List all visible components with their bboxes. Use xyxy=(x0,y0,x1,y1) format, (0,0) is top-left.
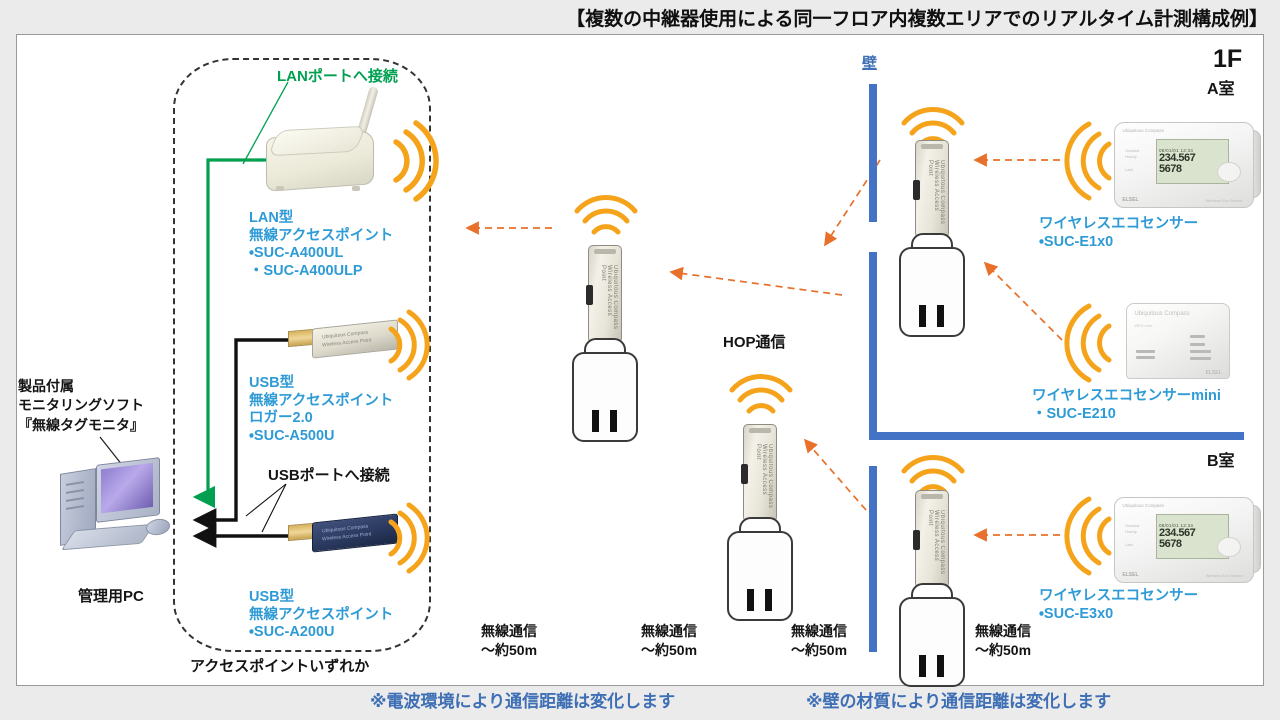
footnote-radio-environment: ※電波環境により通信距離は変化します xyxy=(370,692,675,713)
repeater-body-text: Ubiquitous Compass Wireless Access Point xyxy=(919,510,945,576)
floor-label: 1F xyxy=(1213,44,1242,75)
router-foot-right xyxy=(352,186,360,191)
sensor-brand-text: Ubiquitous Compass xyxy=(1122,503,1164,508)
outlet-body xyxy=(572,352,638,442)
mini-sensor-vent xyxy=(1190,357,1211,360)
wall-segment-top xyxy=(869,84,877,222)
sensor-sub-text: OutdoorHourlyLast xyxy=(1125,148,1139,174)
mini-sensor-sub: WES mini xyxy=(1134,323,1152,328)
outlet-slot-left xyxy=(592,410,599,432)
wireless-eco-sensor-e3x0-label: ワイヤレスエコセンサー ・SUC-E3x0 xyxy=(1039,588,1198,623)
repeater-body-text: Ubiquitous Compass Wireless Access Point xyxy=(592,265,618,331)
outlet-body xyxy=(727,531,793,621)
pc-tower-line xyxy=(66,497,84,502)
mini-sensor-vent xyxy=(1136,356,1155,359)
wifi-icon-sensor-mini xyxy=(1073,300,1115,384)
repeater-body-text: Ubiquitous Compass Wireless Access Point xyxy=(919,160,945,226)
outlet-slot-left xyxy=(919,655,926,677)
wifi-icon-usb-ap xyxy=(386,500,428,576)
usb-connector xyxy=(288,329,314,347)
wifi-icon-lan-ap xyxy=(390,118,438,204)
access-point-group-caption: アクセスポイントいずれか xyxy=(190,658,369,676)
pc-monitor xyxy=(96,457,160,523)
outlet-slot-right xyxy=(610,410,617,432)
lan-connect-note: LANポートへ接続 xyxy=(277,68,398,86)
footnote-wall-material: ※壁の材質により通信距離は変化します xyxy=(806,692,1111,713)
usb-connector xyxy=(288,523,314,541)
outlet-slot-left xyxy=(747,589,754,611)
pc-tower-line xyxy=(66,505,84,510)
management-pc-label: 管理用PC xyxy=(78,588,144,606)
distance-repeater-to-room-a: 無線通信 〜約50m xyxy=(791,622,847,660)
hop-communication-label: HOP通信 xyxy=(723,334,786,352)
outlet-slot-right xyxy=(937,655,944,677)
wifi-icon-sensor-e1x0 xyxy=(1073,118,1115,202)
outlet-slot-right xyxy=(765,589,772,611)
usb-access-point-label: USB型 無線アクセスポイント ・SUC-A200U xyxy=(249,589,393,642)
repeater-cap xyxy=(594,249,616,254)
distance-ap-to-repeater: 無線通信 〜約50m xyxy=(481,622,537,660)
repeater-cap xyxy=(921,494,943,499)
mini-sensor-vent xyxy=(1190,335,1205,338)
mini-sensor-vent xyxy=(1190,343,1205,346)
sensor-footer-text: Wireless Eco Sensor xyxy=(1206,573,1243,578)
outlet-slot-left xyxy=(919,305,926,327)
sensor-sub-text: OutdoorHourlyLast xyxy=(1125,523,1139,549)
wifi-icon-sensor-e3x0 xyxy=(1073,493,1115,577)
wifi-icon-repeater-center-lower xyxy=(727,375,795,417)
page-title: 【複数の中継器使用による同一フロア内複数エリアでのリアルタイム計測構成例】 xyxy=(0,4,1268,31)
usb-connect-note: USBポートへ接続 xyxy=(268,467,390,485)
wireless-eco-sensor-e3x0-device: Ubiquitous Compass OutdoorHourlyLast 08/… xyxy=(1114,497,1254,583)
mini-sensor-vent xyxy=(1190,350,1211,353)
wall-segment-horizontal xyxy=(869,432,1244,440)
wireless-eco-sensor-e1x0-device: Ubiquitous Compass OutdoorHourlyLast 08/… xyxy=(1114,122,1254,208)
repeater-body-text: Ubiquitous Compass Wireless Access Point xyxy=(747,444,773,510)
wifi-icon-repeater-center-upper xyxy=(572,196,640,238)
room-b-label: B室 xyxy=(1207,452,1235,472)
lan-access-point-label: LAN型 無線アクセスポイント ・SUC-A400UL ・SUC-A400ULP xyxy=(249,210,393,281)
wall-label: 壁 xyxy=(862,55,877,73)
outlet-slot-right xyxy=(937,305,944,327)
monitoring-software-note: 製品付属 モニタリングソフト 『無線タグモニタ』 xyxy=(18,377,144,435)
repeater-cap xyxy=(749,428,771,433)
router-foot-left xyxy=(276,186,284,191)
outlet-body xyxy=(899,247,965,337)
pc-tower-line xyxy=(66,481,84,486)
usb-access-point-logger-label: USB型 無線アクセスポイント ロガー2.0 ・SUC-A500U xyxy=(249,375,393,446)
pc-tower-line xyxy=(66,489,84,494)
diagram-root: 【複数の中継器使用による同一フロア内複数エリアでのリアルタイム計測構成例】 xyxy=(0,0,1280,720)
outlet-body xyxy=(899,597,965,687)
wireless-eco-sensor-e1x0-label: ワイヤレスエコセンサー ・SUC-E1x0 xyxy=(1039,216,1198,251)
mini-sensor-logo: ELSEL xyxy=(1206,370,1222,376)
distance-repeater-to-repeater: 無線通信 〜約50m xyxy=(641,622,697,660)
usb-access-point-device: Ubiquitous Compass Wireless Access Point xyxy=(288,512,400,556)
usb-access-point-logger-device: Ubiquitous Compass Wireless Access Point xyxy=(288,318,400,362)
room-a-label: A室 xyxy=(1207,80,1235,100)
distance-repeater-to-room-b: 無線通信 〜約50m xyxy=(975,622,1031,660)
pc-screen xyxy=(101,463,153,513)
mini-sensor-vent xyxy=(1136,350,1155,353)
wireless-eco-sensor-mini-device: Ubiquitous Compass WES mini ELSEL xyxy=(1126,303,1230,379)
repeater-cap xyxy=(921,144,943,149)
sensor-logo: ELSEL xyxy=(1122,197,1138,203)
wall-segment-middle xyxy=(869,252,877,440)
sensor-logo: ELSEL xyxy=(1122,572,1138,578)
wall-segment-bottom xyxy=(869,466,877,652)
mini-sensor-brand: Ubiquitous Compass xyxy=(1134,311,1189,317)
wireless-eco-sensor-mini-label: ワイヤレスエコセンサーmini ・SUC-E210 xyxy=(1032,388,1221,423)
sensor-brand-text: Ubiquitous Compass xyxy=(1122,128,1164,133)
sensor-footer-text: Wireless Eco Sensor xyxy=(1206,198,1243,203)
wifi-icon-usb-logger xyxy=(386,308,428,382)
sensor-lcd-line2: 5678 xyxy=(1159,164,1226,175)
sensor-lcd-line2: 5678 xyxy=(1159,539,1226,550)
